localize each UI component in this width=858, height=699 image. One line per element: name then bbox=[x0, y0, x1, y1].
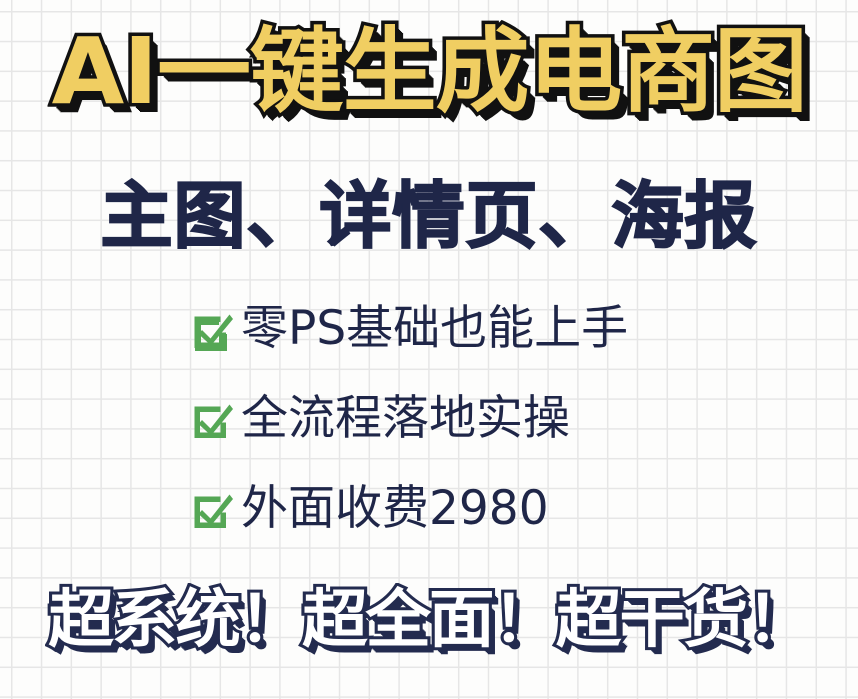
promo-poster: AI一键生成电商图 主图、详情页、海报 零PS基础也能上手 全流程落 bbox=[0, 0, 858, 699]
feature-label: 全流程落地实操 bbox=[241, 395, 570, 442]
feature-list: 零PS基础也能上手 全流程落地实操 外面收费2980 bbox=[190, 297, 810, 567]
checkbox-checked-icon bbox=[190, 487, 235, 532]
footer-banner-container: 超系统！超全面！超干货！ bbox=[0, 588, 858, 651]
list-item: 零PS基础也能上手 bbox=[190, 297, 810, 360]
list-item: 全流程落地实操 bbox=[190, 387, 810, 450]
feature-label: 外面收费2980 bbox=[241, 485, 549, 532]
feature-label: 零PS基础也能上手 bbox=[241, 305, 628, 352]
checkbox-checked-icon bbox=[190, 307, 235, 352]
page-title: AI一键生成电商图 bbox=[51, 26, 806, 118]
subheadline-container: 主图、详情页、海报 bbox=[0, 180, 858, 252]
headline-container: AI一键生成电商图 bbox=[0, 26, 858, 118]
checkbox-checked-icon bbox=[190, 397, 235, 442]
list-item: 外面收费2980 bbox=[190, 477, 810, 540]
footer-tagline: 超系统！超全面！超干货！ bbox=[48, 588, 809, 651]
page-subtitle: 主图、详情页、海报 bbox=[100, 180, 757, 252]
